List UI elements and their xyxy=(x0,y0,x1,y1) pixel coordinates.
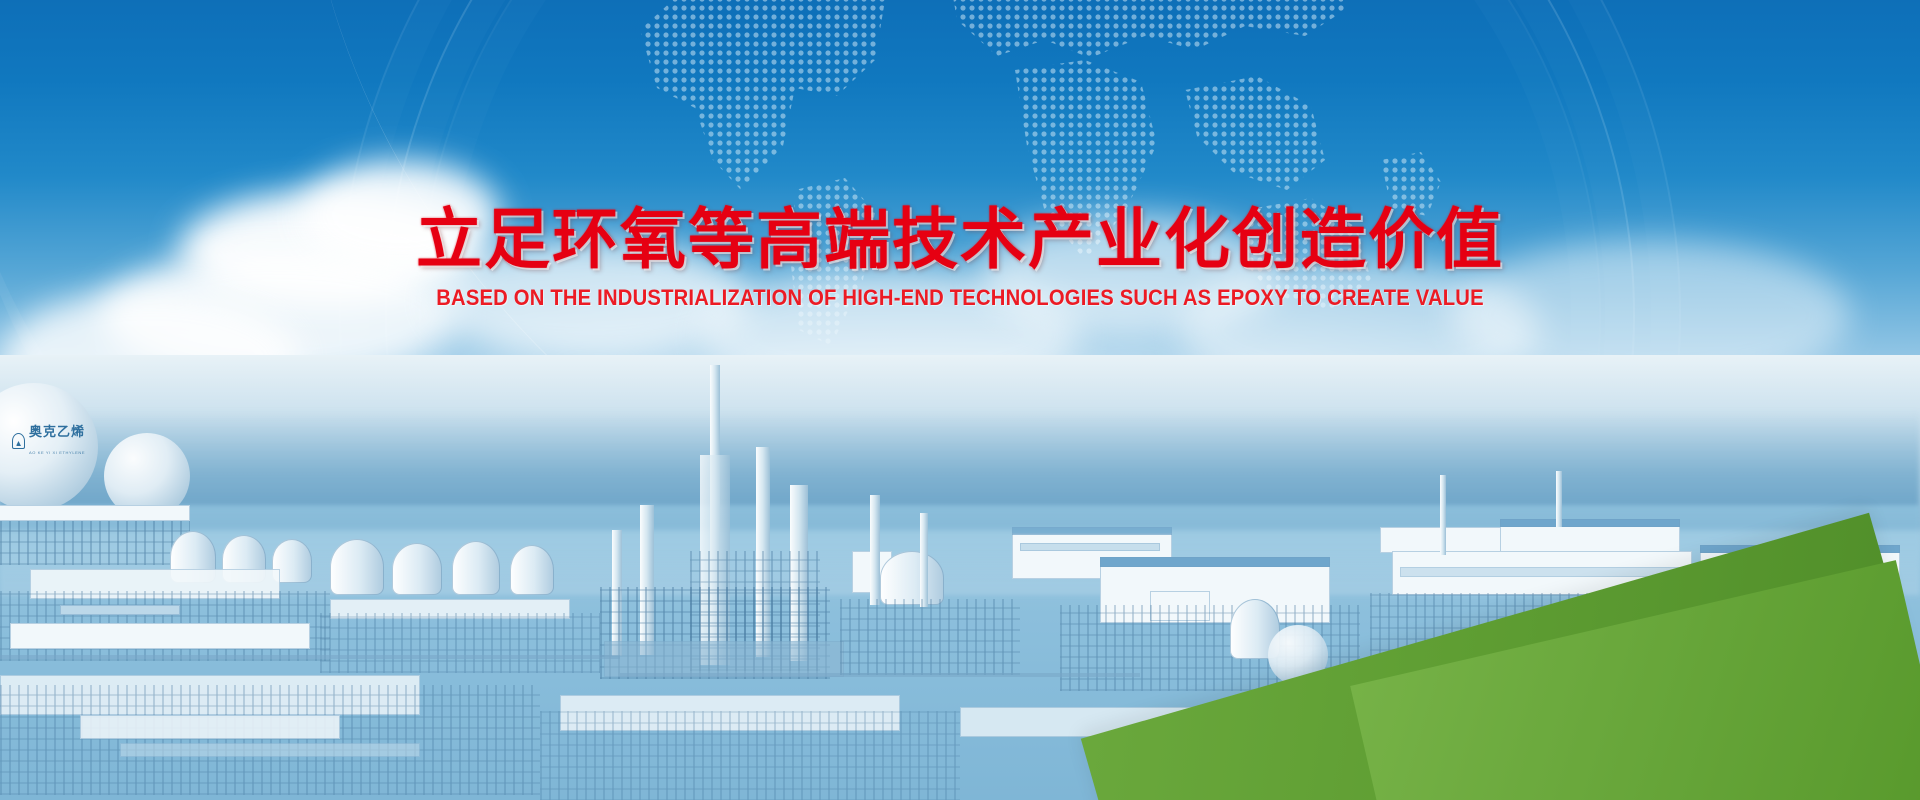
company-logo-icon xyxy=(12,433,25,449)
tank-label-en: AO KE YI XI ETHYLENE xyxy=(29,450,85,455)
hero-banner: 奥克乙烯 AO KE YI XI ETHYLENE xyxy=(0,0,1920,800)
tank-label-cn: 奥克乙烯 xyxy=(29,424,85,439)
tank-brand-label: 奥克乙烯 AO KE YI XI ETHYLENE xyxy=(12,423,85,459)
banner-copy: 立足环氧等高端技术产业化创造价值 BASED ON THE INDUSTRIAL… xyxy=(0,206,1920,311)
industrial-plant-photo: 奥克乙烯 AO KE YI XI ETHYLENE xyxy=(0,355,1920,800)
tank-support-lattice xyxy=(0,521,190,565)
page-title: 立足环氧等高端技术产业化创造价值 xyxy=(0,206,1920,273)
page-subtitle: BASED ON THE INDUSTRIALIZATION OF HIGH-E… xyxy=(77,285,1843,311)
tank-support-deck xyxy=(0,505,190,521)
